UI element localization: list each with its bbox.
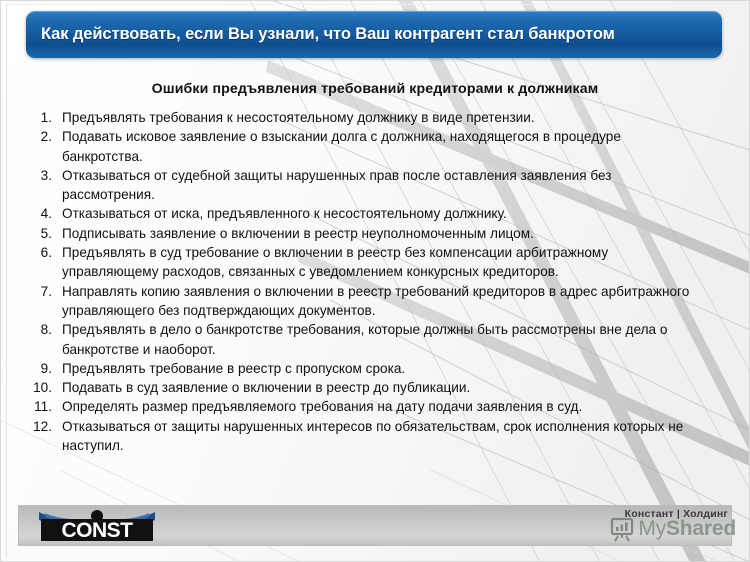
list-item-text: Подавать исковое заявление о взыскании д… (62, 127, 700, 166)
list-item-number: 4. (28, 204, 62, 223)
list-item-number: 12. (28, 417, 62, 436)
watermark-my: My (638, 517, 666, 540)
list-item-number: 10. (28, 378, 62, 397)
list-item: 3. Отказываться от судебной защиты наруш… (28, 166, 700, 205)
list-item-number: 1. (28, 108, 62, 127)
list-item-number: 11. (28, 397, 62, 416)
list-item: 2. Подавать исковое заявление о взыскани… (28, 127, 700, 166)
list-item-number: 2. (28, 127, 62, 146)
list-item-text: Направлять копию заявления о включении в… (62, 282, 700, 321)
watermark-shared: Shared (666, 517, 736, 540)
banner-title: Как действовать, если Вы узнали, что Ваш… (26, 25, 615, 44)
myshared-watermark-text: MyShared (638, 517, 736, 541)
list-item-text: Отказываться от иска, предъявленного к н… (62, 204, 700, 223)
const-logo-text: CONST (62, 519, 134, 542)
list-item-text: Отказываться от защиты нарушенных интере… (62, 417, 700, 456)
list-item-number: 6. (28, 243, 62, 262)
list-item: 4. Отказываться от иска, предъявленного … (28, 204, 700, 223)
list-item: 9. Предъявлять требование в реестр с про… (28, 359, 700, 378)
list-item-text: Предъявлять в дело о банкротстве требова… (62, 320, 700, 359)
list-item-text: Отказываться от судебной защиты нарушенн… (62, 166, 700, 205)
list-item: 8. Предъявлять в дело о банкротстве треб… (28, 320, 700, 359)
list-item: 1. Предъявлять требования к несостоятель… (28, 108, 700, 127)
slide-canvas: Как действовать, если Вы узнали, что Ваш… (0, 0, 750, 562)
list-item-text: Предъявлять требования к несостоятельном… (62, 108, 700, 127)
slide-subtitle: Ошибки предъявления требований кредитора… (0, 81, 750, 97)
list-item: 10. Подавать в суд заявление о включении… (28, 378, 700, 397)
list-item-text: Предъявлять требование в реестр с пропус… (62, 359, 700, 378)
list-item-number: 3. (28, 166, 62, 185)
mistakes-list: 1. Предъявлять требования к несостоятель… (28, 108, 700, 455)
list-item-number: 7. (28, 282, 62, 301)
list-item-number: 5. (28, 224, 62, 243)
list-item: 7. Направлять копию заявления о включени… (28, 282, 700, 321)
const-logo: CONST (35, 508, 159, 544)
list-item: 5. Подписывать заявление о включении в р… (28, 224, 700, 243)
list-item-number: 8. (28, 320, 62, 339)
presentation-chart-icon (609, 516, 635, 542)
list-item-text: Подписывать заявление о включении в реес… (62, 224, 700, 243)
list-item: 12. Отказываться от защиты нарушенных ин… (28, 417, 700, 456)
list-item-text: Подавать в суд заявление о включении в р… (62, 378, 700, 397)
list-item: 6. Предъявлять в суд требование о включе… (28, 243, 700, 282)
list-item-text: Предъявлять в суд требование о включении… (62, 243, 700, 282)
list-item: 11. Определять размер предъявляемого тре… (28, 397, 700, 416)
list-item-text: Определять размер предъявляемого требова… (62, 397, 700, 416)
list-item-number: 9. (28, 359, 62, 378)
myshared-watermark: MyShared (609, 516, 736, 542)
title-banner: Как действовать, если Вы узнали, что Ваш… (26, 11, 722, 58)
